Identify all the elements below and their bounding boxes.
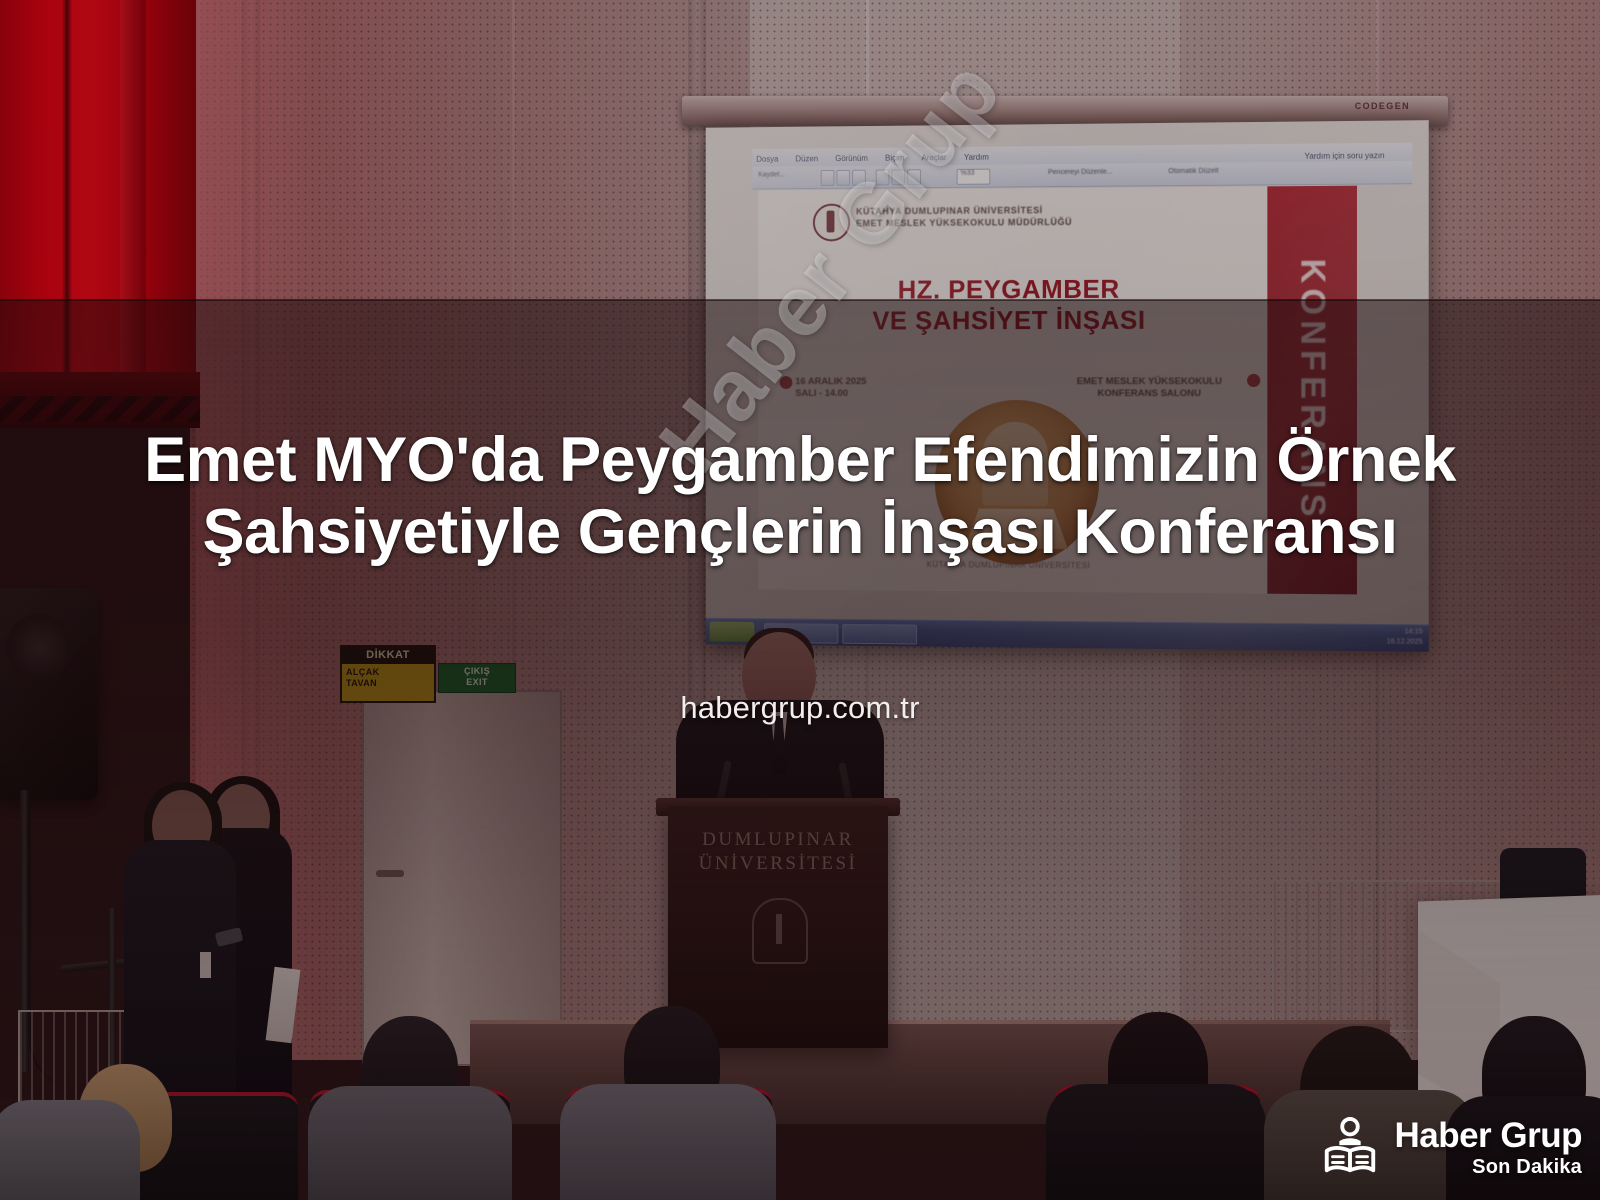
- photo-dim-top: [0, 0, 1600, 300]
- person-reading-book-icon: [1319, 1116, 1381, 1178]
- page-title: Emet MYO'da Peygamber Efendimizin Örnek …: [120, 424, 1480, 568]
- news-hero-image: CODEGEN Dosya Düzen Görünüm Biçim Araçla…: [0, 0, 1600, 1200]
- brand-tagline: Son Dakika: [1394, 1157, 1582, 1177]
- site-url: habergrup.com.tr: [120, 690, 1480, 726]
- brand-name: Haber Grup: [1394, 1118, 1582, 1153]
- brand-logo[interactable]: Haber Grup Son Dakika: [1319, 1108, 1582, 1186]
